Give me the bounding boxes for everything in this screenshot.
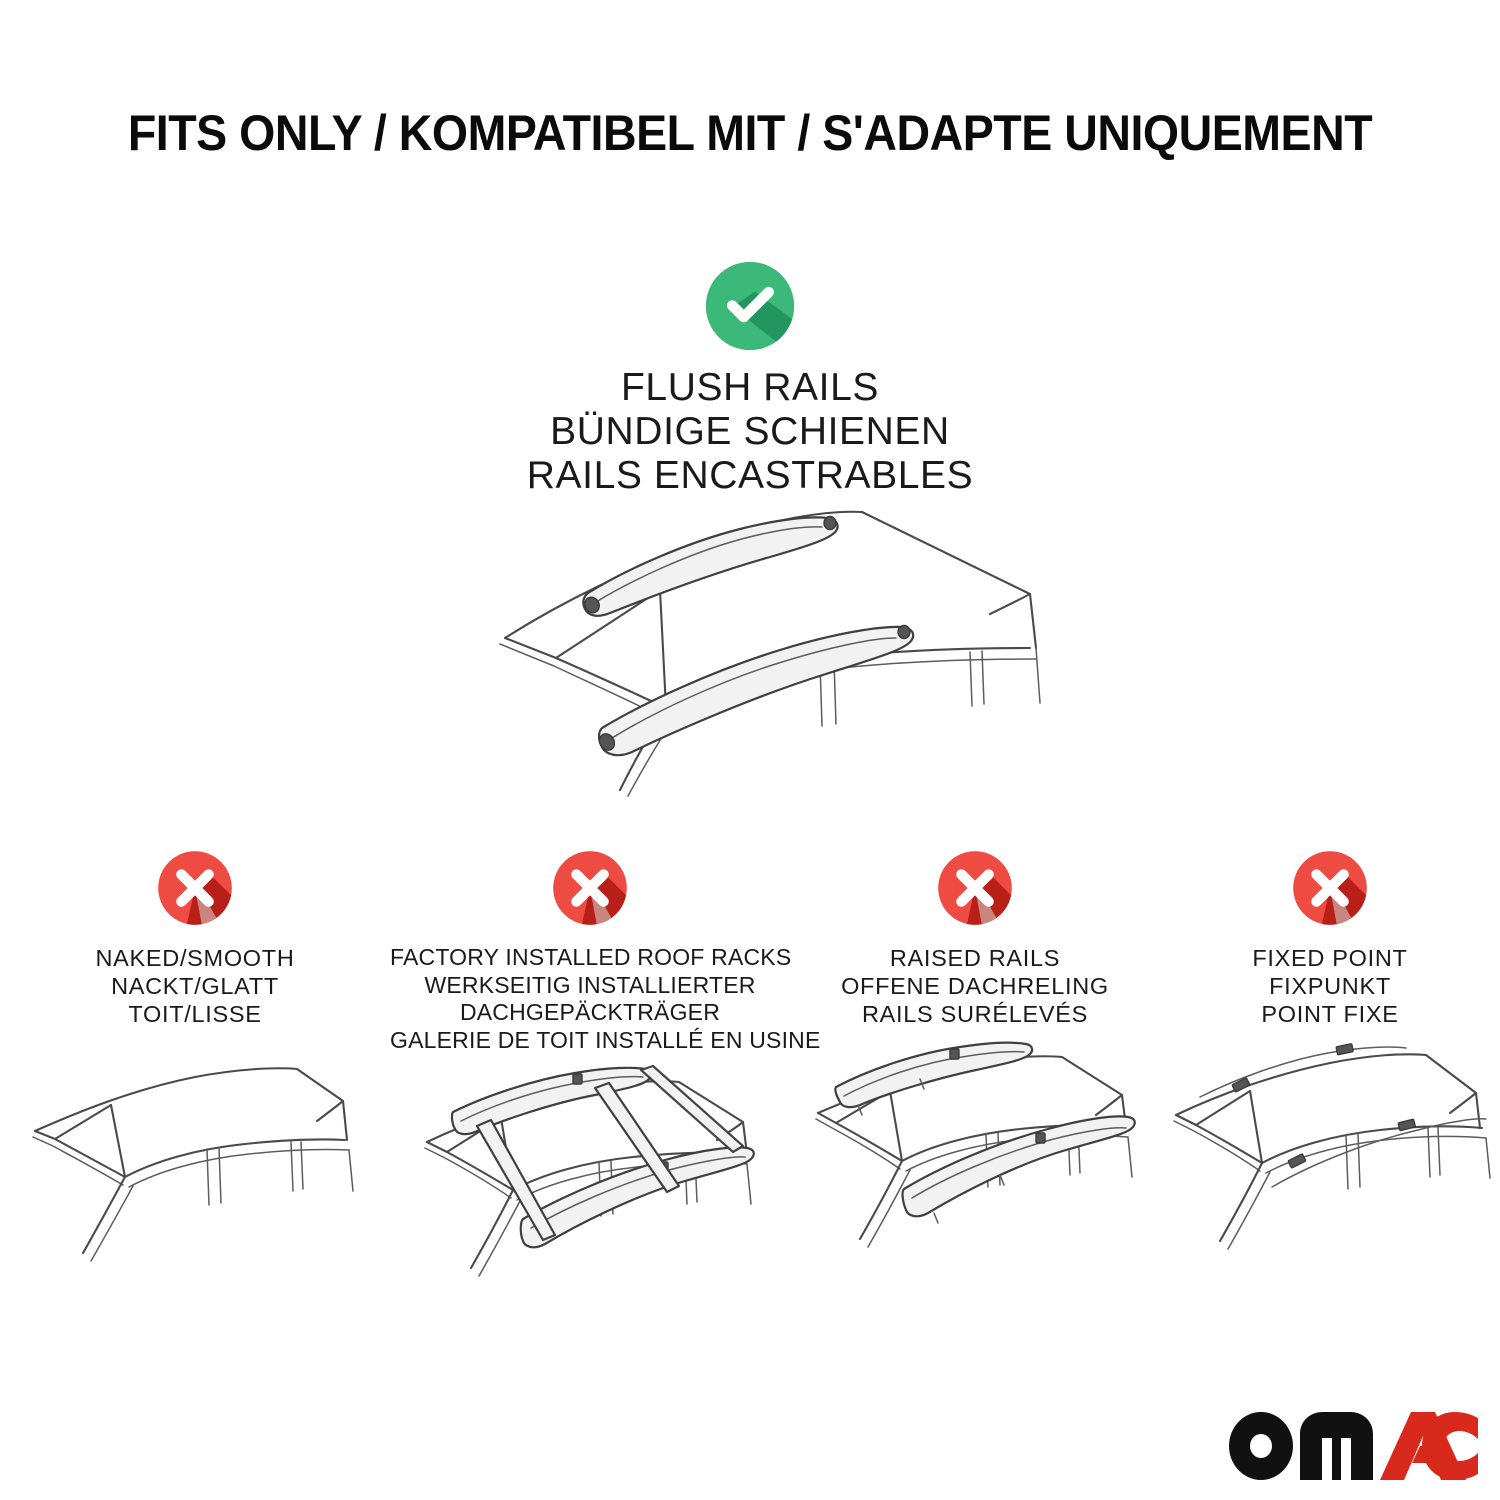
omac-logo: OMAC xyxy=(1228,1408,1478,1484)
cross-badge-wrap-3 xyxy=(790,848,1160,940)
cross-badge-wrap-2 xyxy=(390,848,790,940)
compatible-line-en: FLUSH RAILS xyxy=(0,366,1500,410)
label-line-en: RAISED RAILS xyxy=(790,944,1160,972)
label-line-fr: RAILS SURÉLEVÉS xyxy=(790,1000,1160,1028)
label-line-fr: POINT FIXE xyxy=(1160,1000,1500,1028)
incompatible-column-factory-roof-racks: FACTORY INSTALLED ROOF RACKS WERKSEITIG … xyxy=(390,848,790,1314)
incompatible-column-fixed-point: FIXED POINT FIXPUNKT POINT FIXE xyxy=(1160,848,1500,1289)
incompatible-section: NAKED/SMOOTH NACKT/GLATT TOIT/LISSE xyxy=(0,848,1500,1314)
car-roof-with-flush-rails-illustration xyxy=(470,498,1050,798)
label-line-en: FIXED POINT xyxy=(1160,944,1500,972)
check-circle-icon xyxy=(702,258,798,354)
label-fixed-point: FIXED POINT FIXPUNKT POINT FIXE xyxy=(1160,944,1500,1029)
logo-letter-o xyxy=(1229,1412,1293,1480)
label-line-de: NACKT/GLATT xyxy=(0,972,390,1000)
label-line-de-1: WERKSEITIG INSTALLIERTER xyxy=(390,972,790,1000)
cross-circle-icon xyxy=(550,848,630,928)
incompatible-column-raised-rails: RAISED RAILS OFFENE DACHRELING RAILS SUR… xyxy=(790,848,1160,1289)
cross-badge-wrap-1 xyxy=(0,848,390,940)
label-line-en: FACTORY INSTALLED ROOF RACKS xyxy=(390,944,790,972)
label-naked-smooth: NAKED/SMOOTH NACKT/GLATT TOIT/LISSE xyxy=(0,944,390,1029)
compatible-line-de: BÜNDIGE SCHIENEN xyxy=(0,410,1500,454)
cross-circle-icon xyxy=(155,848,235,928)
label-raised-rails: RAISED RAILS OFFENE DACHRELING RAILS SUR… xyxy=(790,944,1160,1029)
compatible-heading: FLUSH RAILS BÜNDIGE SCHIENEN RAILS ENCAS… xyxy=(0,366,1500,498)
compatible-line-fr: RAILS ENCASTRABLES xyxy=(0,454,1500,498)
cross-circle-icon xyxy=(935,848,1015,928)
car-roof-raised-rails-illustration xyxy=(790,1039,1160,1289)
label-factory-roof-racks: FACTORY INSTALLED ROOF RACKS WERKSEITIG … xyxy=(390,944,790,1054)
label-line-en: NAKED/SMOOTH xyxy=(0,944,390,972)
page-title: FITS ONLY / KOMPATIBEL MIT / S'ADAPTE UN… xyxy=(53,104,1448,162)
compatible-section: FLUSH RAILS BÜNDIGE SCHIENEN RAILS ENCAS… xyxy=(0,258,1500,498)
incompatible-column-naked-smooth: NAKED/SMOOTH NACKT/GLATT TOIT/LISSE xyxy=(0,848,390,1289)
car-roof-factory-roof-racks-illustration xyxy=(390,1064,790,1314)
label-line-de: FIXPUNKT xyxy=(1160,972,1500,1000)
car-roof-fixed-point-illustration xyxy=(1160,1039,1500,1289)
car-roof-naked-smooth-illustration xyxy=(0,1039,390,1289)
label-line-fr: GALERIE DE TOIT INSTALLÉ EN USINE xyxy=(390,1027,790,1055)
logo-letter-m xyxy=(1300,1412,1373,1480)
cross-circle-icon xyxy=(1290,848,1370,928)
label-line-de: OFFENE DACHRELING xyxy=(790,972,1160,1000)
label-line-de-2: DACHGEPÄCKTRÄGER xyxy=(390,999,790,1027)
cross-badge-wrap-4 xyxy=(1160,848,1500,940)
label-line-fr: TOIT/LISSE xyxy=(0,1000,390,1028)
